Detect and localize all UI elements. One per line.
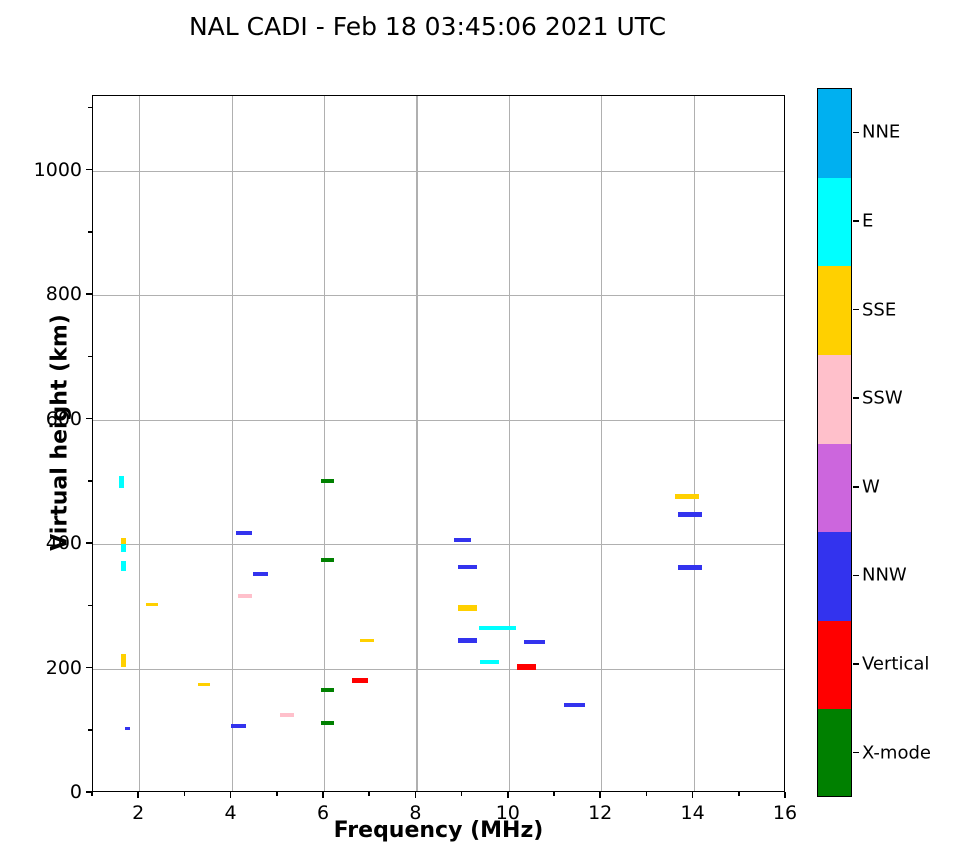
- colorbar-tick: [853, 486, 859, 488]
- y-tick: [86, 667, 92, 669]
- x-tick-minor: [646, 792, 648, 796]
- colorbar-tick: [853, 132, 859, 134]
- y-tick: [86, 542, 92, 544]
- x-tick: [692, 792, 694, 798]
- colorbar-segment-sse: [818, 266, 851, 355]
- x-tick-minor: [276, 792, 278, 796]
- data-marker: [198, 683, 210, 686]
- colorbar-label-nne: NNE: [862, 122, 900, 143]
- data-marker: [121, 654, 126, 667]
- y-tick-minor: [88, 356, 92, 358]
- data-marker: [125, 727, 130, 730]
- x-tick: [507, 792, 509, 798]
- data-marker: [236, 531, 252, 535]
- y-tick-minor: [88, 107, 92, 109]
- data-marker: [524, 640, 545, 644]
- x-tick-minor: [368, 792, 370, 796]
- data-marker: [360, 639, 374, 642]
- data-marker: [146, 603, 158, 606]
- x-tick: [784, 792, 786, 798]
- y-tick-minor: [88, 605, 92, 607]
- plot-area: [92, 95, 785, 792]
- data-marker: [517, 664, 536, 670]
- y-tick: [86, 293, 92, 295]
- data-marker: [479, 626, 498, 630]
- page-title: NAL CADI - Feb 18 03:45:06 2021 UTC: [0, 12, 855, 41]
- y-tick: [86, 418, 92, 420]
- colorbar-tick: [853, 220, 859, 222]
- ionogram-figure: NAL CADI - Feb 18 03:45:06 2021 UTC 2468…: [0, 0, 958, 857]
- y-tick-minor: [88, 231, 92, 233]
- colorbar-segment-e: [818, 178, 851, 267]
- y-tick: [86, 791, 92, 793]
- data-marker: [321, 721, 334, 725]
- colorbar-label-w: W: [862, 476, 880, 497]
- y-tick: [86, 169, 92, 171]
- x-tick: [137, 792, 139, 798]
- colorbar-label-x-mode: X-mode: [862, 742, 931, 763]
- data-marker: [352, 678, 368, 683]
- azimuth-colorbar: [817, 88, 852, 797]
- data-marker: [678, 565, 702, 570]
- data-marker: [239, 724, 246, 728]
- data-marker: [321, 479, 334, 483]
- x-tick: [322, 792, 324, 798]
- y-tick-label: 1000: [10, 159, 82, 181]
- x-tick-minor: [553, 792, 555, 796]
- data-marker: [675, 494, 699, 499]
- colorbar-label-ssw: SSW: [862, 388, 903, 409]
- data-marker: [121, 561, 126, 571]
- data-marker: [458, 565, 477, 569]
- data-marker: [121, 544, 126, 552]
- data-marker: [458, 605, 477, 611]
- data-markers-layer: [93, 96, 784, 791]
- data-marker: [321, 558, 334, 562]
- data-marker: [119, 476, 124, 488]
- data-marker: [238, 594, 252, 598]
- data-marker: [454, 538, 471, 542]
- colorbar-segment-w: [818, 444, 851, 533]
- x-tick-minor: [738, 792, 740, 796]
- colorbar-label-vertical: Vertical: [862, 654, 929, 675]
- y-tick-label: 200: [10, 657, 82, 679]
- colorbar-tick: [853, 397, 859, 399]
- colorbar-tick: [853, 663, 859, 665]
- x-tick-minor: [461, 792, 463, 796]
- y-tick-minor: [88, 729, 92, 731]
- colorbar-segment-vertical: [818, 621, 851, 710]
- x-tick: [230, 792, 232, 798]
- colorbar-segment-x-mode: [818, 709, 851, 797]
- x-axis-label: Frequency (MHz): [92, 818, 785, 843]
- colorbar-tick: [853, 309, 859, 311]
- data-marker: [564, 703, 585, 707]
- data-marker: [321, 688, 334, 692]
- data-marker: [497, 626, 516, 630]
- colorbar-label-nnw: NNW: [862, 565, 907, 586]
- colorbar-segment-ssw: [818, 355, 851, 444]
- data-marker: [458, 638, 477, 643]
- data-marker: [480, 660, 499, 664]
- x-tick: [599, 792, 601, 798]
- colorbar-segment-nnw: [818, 532, 851, 621]
- colorbar-tick: [853, 575, 859, 577]
- data-marker: [253, 572, 268, 576]
- colorbar-label-e: E: [862, 210, 873, 231]
- x-tick-minor: [184, 792, 186, 796]
- data-marker: [280, 713, 294, 717]
- y-tick-label: 0: [10, 781, 82, 803]
- colorbar-label-sse: SSE: [862, 299, 896, 320]
- data-marker: [678, 512, 702, 517]
- x-tick: [415, 792, 417, 798]
- y-tick-minor: [88, 480, 92, 482]
- y-axis-label: Virtual height (km): [48, 233, 73, 633]
- colorbar-segment-nne: [818, 89, 851, 178]
- colorbar-tick: [853, 752, 859, 754]
